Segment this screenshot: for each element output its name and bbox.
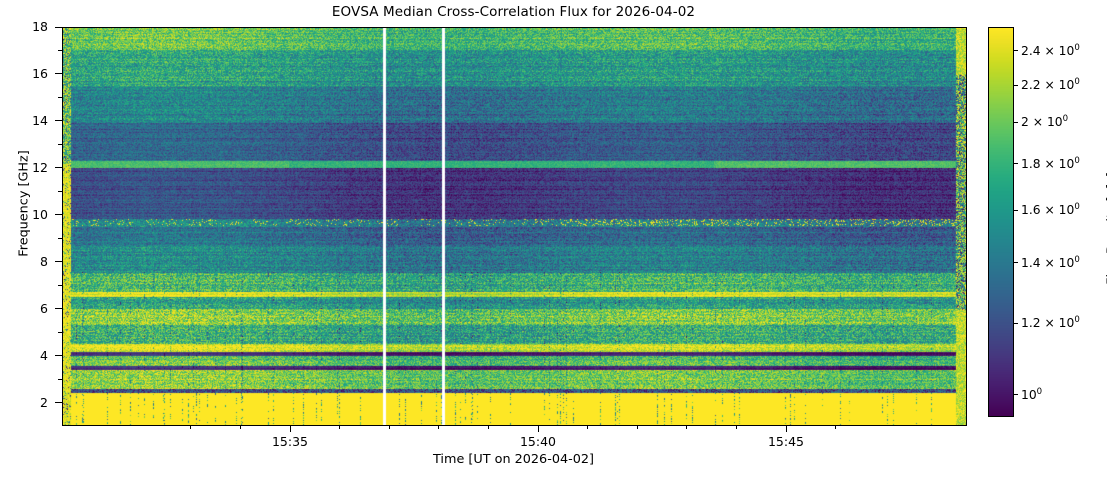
y-tick-label: 2 <box>8 397 48 409</box>
colorbar-tick-mark <box>1013 394 1018 395</box>
y-tick-mark <box>55 73 62 74</box>
y-tick-mark-minor <box>58 50 62 51</box>
colorbar-tick-mark <box>1013 50 1018 51</box>
colorbar-tick-mark <box>1013 85 1018 86</box>
x-tick-mark-minor <box>389 425 390 429</box>
y-tick-label: 4 <box>8 350 48 362</box>
y-tick-mark <box>55 261 62 262</box>
y-tick-label: 14 <box>8 115 48 127</box>
y-axis-label: Frequency [GHz] <box>17 104 32 304</box>
colorbar-tick-mark <box>1013 122 1018 123</box>
y-tick-mark-minor <box>58 144 62 145</box>
y-tick-mark-minor <box>58 238 62 239</box>
y-tick-label: 18 <box>8 21 48 33</box>
colorbar-tick-mark <box>1013 262 1018 263</box>
page-title: EOVSA Median Cross-Correlation Flux for … <box>62 4 965 20</box>
colorbar-tick-label: 2 × 100 <box>1021 116 1068 128</box>
x-tick-mark-minor <box>488 425 489 429</box>
colorbar-tick-label: 2.4 × 100 <box>1021 45 1080 57</box>
x-tick-mark-minor <box>438 425 439 429</box>
y-tick-label: 6 <box>8 303 48 315</box>
x-tick-mark-minor <box>637 425 638 429</box>
y-tick-mark-minor <box>58 332 62 333</box>
dynamic-spectrum-image <box>63 28 966 425</box>
x-tick-mark <box>786 425 787 432</box>
x-tick-mark-minor <box>240 425 241 429</box>
x-tick-label: 15:45 <box>751 434 821 449</box>
y-tick-label: 10 <box>8 209 48 221</box>
y-tick-mark <box>55 27 62 28</box>
colorbar-tick-label: 1.4 × 100 <box>1021 257 1080 269</box>
y-tick-mark <box>55 214 62 215</box>
y-tick-label: 16 <box>8 68 48 80</box>
colorbar-tick-mark <box>1013 163 1018 164</box>
colorbar-gradient <box>989 28 1013 416</box>
x-tick-mark-minor <box>190 425 191 429</box>
x-axis-label: Time [UT on 2026-04-02] <box>62 452 965 467</box>
colorbar-tick-label: 2.2 × 100 <box>1021 79 1080 91</box>
y-tick-mark-minor <box>58 97 62 98</box>
y-tick-mark-minor <box>58 379 62 380</box>
colorbar-tick-label: 100 <box>1021 389 1042 401</box>
y-tick-mark <box>55 308 62 309</box>
colorbar-tick-mark <box>1013 210 1018 211</box>
y-tick-mark-minor <box>58 191 62 192</box>
y-tick-mark-minor <box>58 285 62 286</box>
x-tick-mark <box>538 425 539 432</box>
spectrogram-figure: EOVSA Median Cross-Correlation Flux for … <box>0 0 1107 477</box>
x-tick-mark-minor <box>587 425 588 429</box>
x-tick-mark-minor <box>835 425 836 429</box>
x-tick-mark-minor <box>686 425 687 429</box>
y-tick-mark <box>55 402 62 403</box>
y-tick-mark <box>55 355 62 356</box>
colorbar <box>988 27 1014 417</box>
colorbar-tick-mark <box>1013 323 1018 324</box>
x-tick-mark-minor <box>736 425 737 429</box>
y-tick-mark <box>55 167 62 168</box>
y-tick-mark <box>55 120 62 121</box>
colorbar-tick-label: 1.2 × 100 <box>1021 317 1080 329</box>
y-tick-label: 8 <box>8 256 48 268</box>
colorbar-tick-label: 1.8 × 100 <box>1021 158 1080 170</box>
x-tick-mark-minor <box>339 425 340 429</box>
colorbar-tick-label: 1.6 × 100 <box>1021 204 1080 216</box>
x-tick-mark <box>290 425 291 432</box>
x-tick-label: 15:40 <box>503 434 573 449</box>
spectrogram-axes <box>62 27 967 426</box>
y-tick-label: 12 <box>8 162 48 174</box>
x-tick-label: 15:35 <box>255 434 325 449</box>
